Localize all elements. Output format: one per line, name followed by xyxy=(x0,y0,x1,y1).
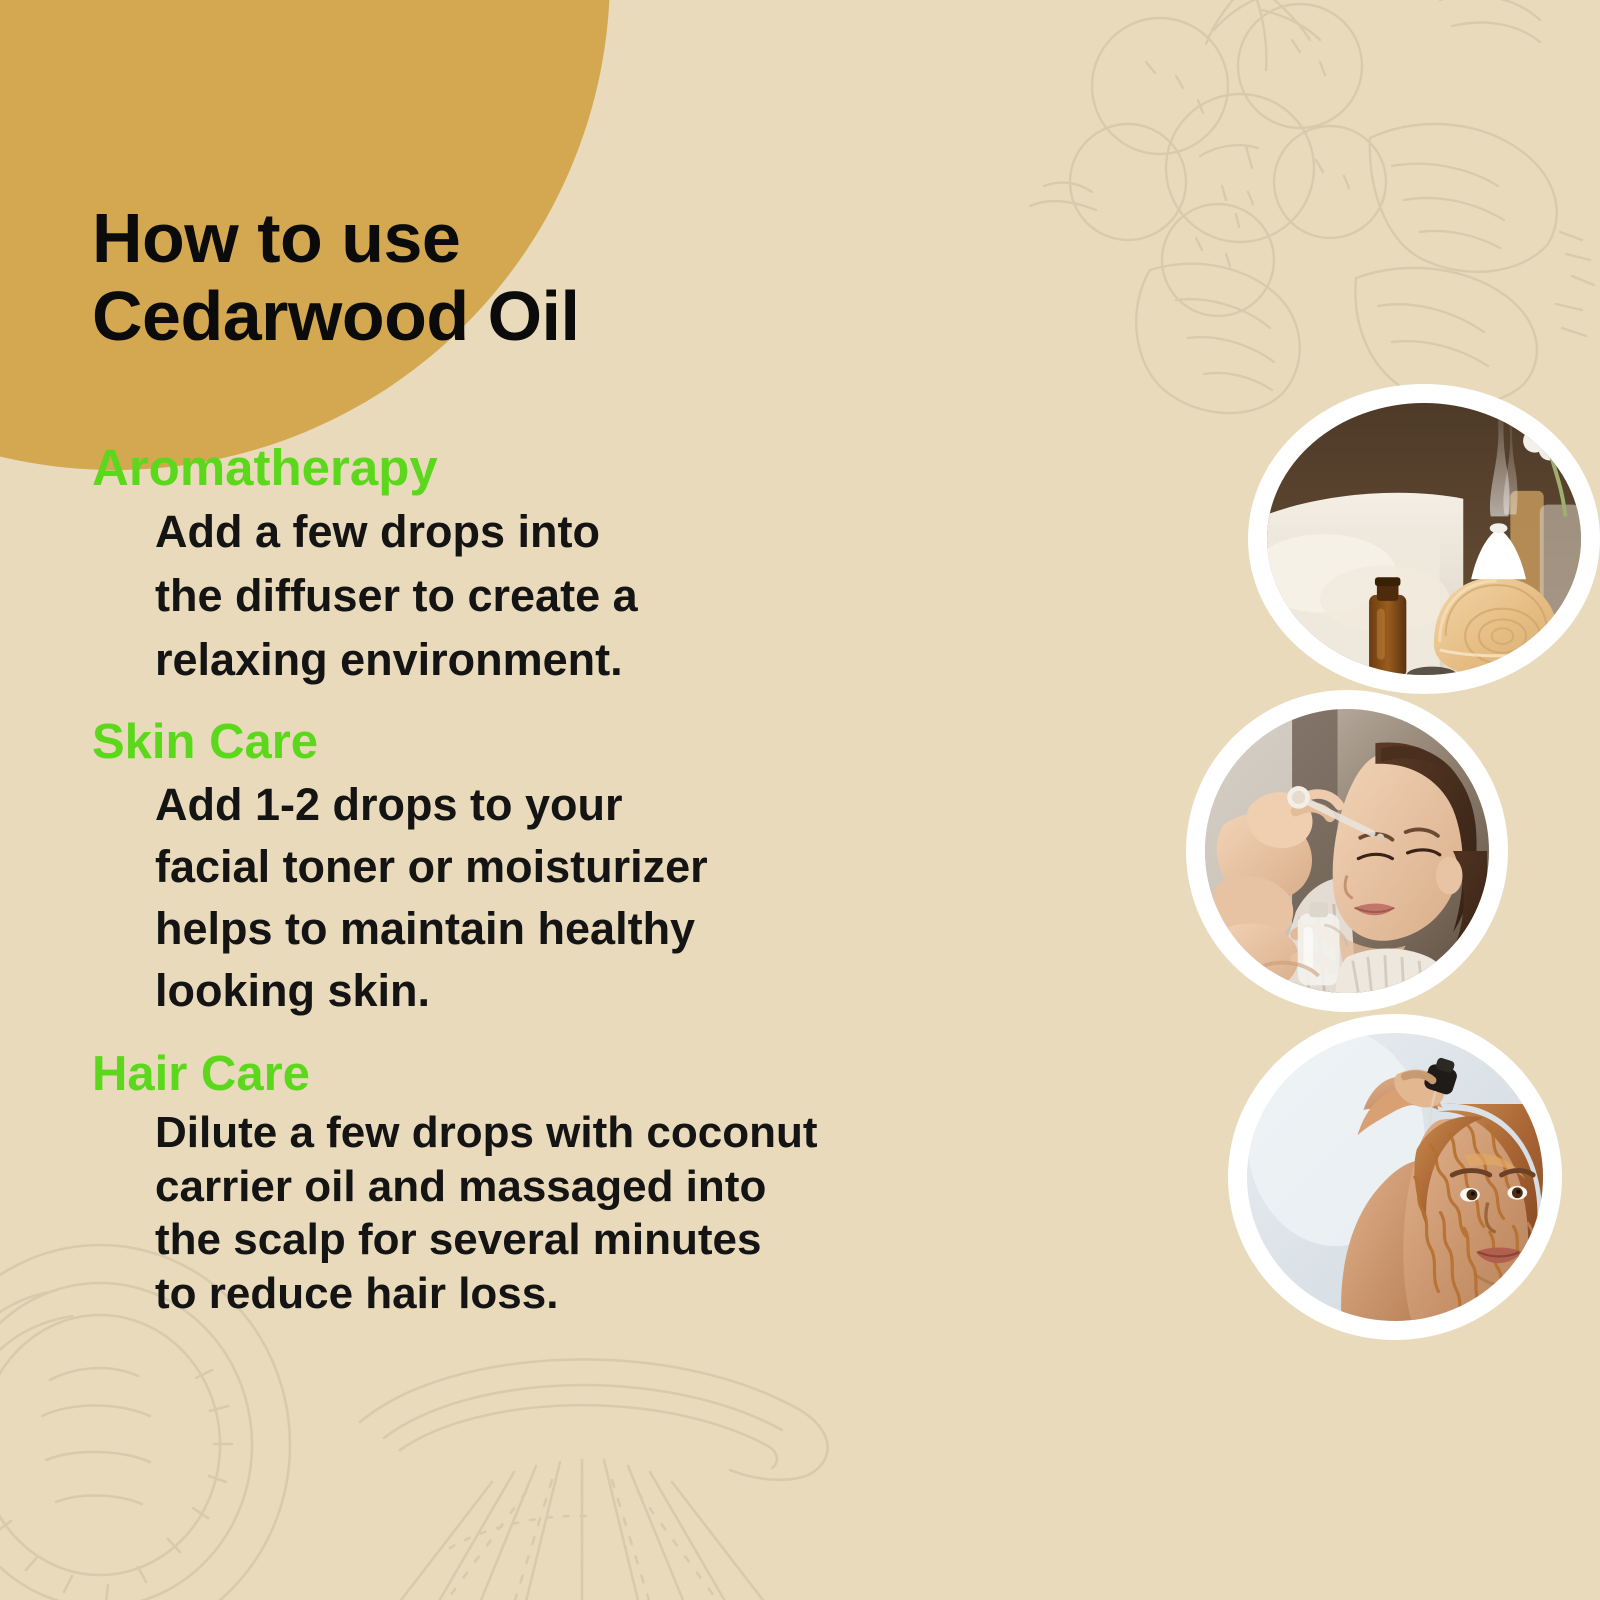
page-title: How to use Cedarwood Oil xyxy=(92,199,852,356)
facial-serum-photo xyxy=(1186,690,1508,1012)
aroma-diffuser-photo xyxy=(1248,384,1600,694)
citrus-slice-watermark xyxy=(330,1310,850,1600)
section-body-hair-care: Dilute a few drops with coconut carrier … xyxy=(155,1106,1010,1321)
infographic-canvas: How to use Cedarwood Oil Aromatherapy Ad… xyxy=(0,0,1600,1600)
botanical-berries-watermark xyxy=(1000,0,1600,440)
hair-oil-photo-image xyxy=(1247,1033,1543,1321)
facial-serum-photo-image xyxy=(1205,709,1489,993)
section-heading-hair-care: Hair Care xyxy=(92,1048,1010,1102)
section-aromatherapy: Aromatherapy Add a few drops into the di… xyxy=(0,440,1010,692)
hair-oil-photo xyxy=(1228,1014,1562,1340)
section-heading-skin-care: Skin Care xyxy=(92,716,1010,770)
aroma-diffuser-photo-image xyxy=(1267,403,1581,675)
section-hair-care: Hair Care Dilute a few drops with coconu… xyxy=(0,1048,1010,1321)
section-skin-care: Skin Care Add 1-2 drops to your facial t… xyxy=(0,716,1010,1022)
usage-sections: Aromatherapy Add a few drops into the di… xyxy=(0,440,1010,1327)
section-body-aromatherapy: Add a few drops into the diffuser to cre… xyxy=(155,500,1010,692)
section-heading-aromatherapy: Aromatherapy xyxy=(92,440,1010,496)
section-body-skin-care: Add 1-2 drops to your facial toner or mo… xyxy=(155,774,1010,1022)
